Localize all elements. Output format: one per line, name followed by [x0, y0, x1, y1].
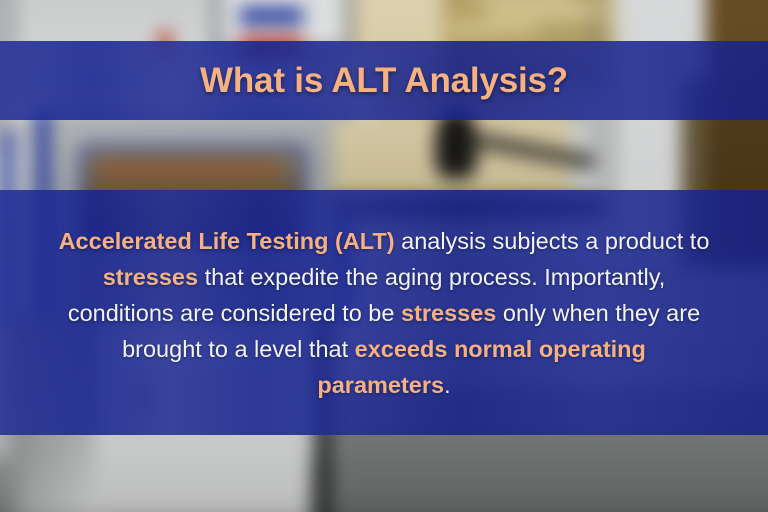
body-highlight-2: stresses [103, 264, 198, 290]
photo-copper-element [96, 158, 283, 182]
body-highlight-4: stresses [401, 300, 496, 326]
body-paragraph: Accelerated Life Testing (ALT) analysis … [54, 223, 714, 403]
page-title: What is ALT Analysis? [200, 61, 568, 101]
body-text-1: analysis subjects a product to [395, 228, 710, 254]
body-highlight-0: Accelerated Life Testing (ALT) [59, 228, 395, 254]
photo-gold-streak-2 [486, 7, 605, 15]
title-band: What is ALT Analysis? [0, 41, 768, 120]
photo-blue-label [240, 7, 304, 25]
body-text-7: . [444, 372, 451, 398]
body-band: Accelerated Life Testing (ALT) analysis … [0, 190, 768, 435]
photo-gold-streak-3 [452, 25, 537, 32]
body-highlight-6: exceeds normal operating parameters [317, 336, 646, 398]
photo-floor-shadow [0, 505, 768, 512]
infographic-canvas: What is ALT Analysis? Accelerated Life T… [0, 0, 768, 512]
